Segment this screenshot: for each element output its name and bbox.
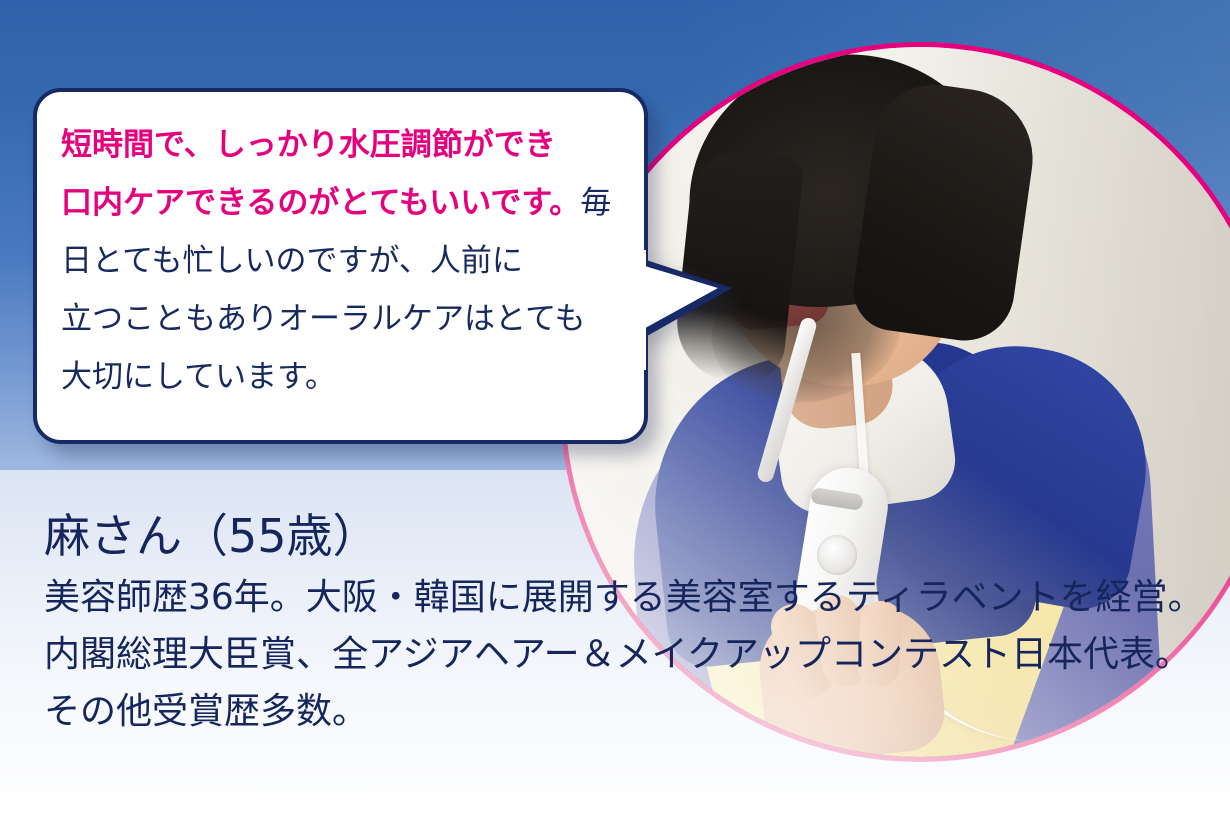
testimonial-highlight-mark: 。 xyxy=(549,185,580,221)
photo-ear xyxy=(918,194,973,267)
bubble-tail-seam-cover xyxy=(620,250,646,370)
photo-mouth xyxy=(731,280,831,332)
speech-bubble-tail-fill xyxy=(638,264,718,332)
photo-moustache xyxy=(724,256,819,296)
testimonial-speech-bubble: 短時間で、しっかり水圧調節ができ 口内ケアできるのがとてもいいです。毎日とても忙… xyxy=(33,88,648,444)
photo-eyebrow xyxy=(753,175,813,198)
photo-neck xyxy=(774,292,897,433)
testimonial-highlight: 短時間で、しっかり水圧調節ができ 口内ケアできるのがとてもいいです xyxy=(61,127,556,221)
profile-line-2: 内閣総理大臣賞、全アジアヘアー＆メイクアップコンテスト日本代表。 xyxy=(44,626,1184,683)
profile-caption: 麻さん（55歳） 美容師歴36年。大阪・韓国に展開する美容室するティラベントを経… xyxy=(44,505,1184,740)
photo-face xyxy=(698,83,981,401)
photo-eye xyxy=(760,199,806,222)
profile-line-3: その他受賞歴多数。 xyxy=(44,683,1184,740)
photo-beard xyxy=(702,249,910,414)
photo-collar xyxy=(765,336,961,519)
profile-line-1: 美容師歴36年。大阪・韓国に展開する美容室するティラベントを経営。 xyxy=(44,569,1184,626)
profile-name: 麻さん（55歳） xyxy=(44,505,1184,567)
photo-hair-back xyxy=(848,77,1041,347)
photo-teeth xyxy=(731,281,819,310)
testimonial-banner: 短時間で、しっかり水圧調節ができ 口内ケアできるのがとてもいいです。毎日とても忙… xyxy=(0,0,1230,820)
photo-device-nozzle xyxy=(756,316,818,484)
testimonial-text: 短時間で、しっかり水圧調節ができ 口内ケアできるのがとてもいいです。毎日とても忙… xyxy=(61,116,626,406)
photo-nose xyxy=(734,231,770,276)
